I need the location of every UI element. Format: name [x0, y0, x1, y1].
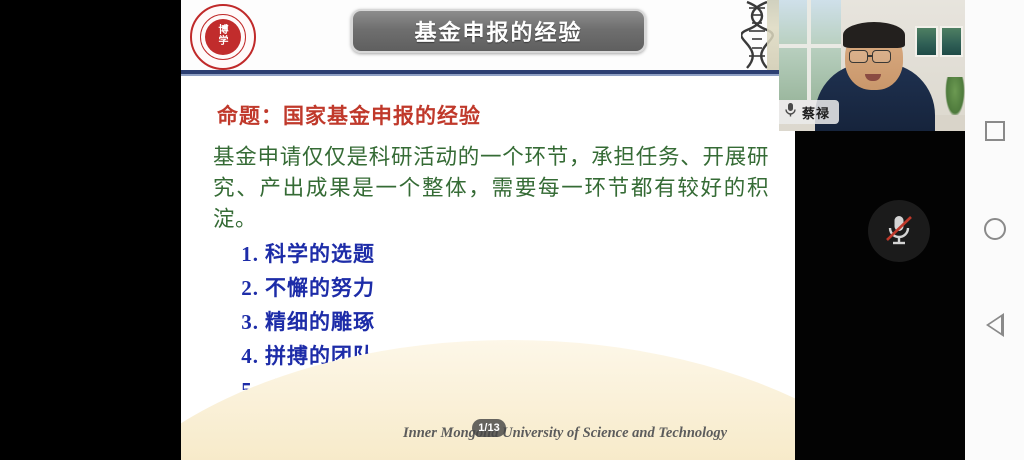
- participant-video-tile[interactable]: 蔡禄: [779, 0, 965, 131]
- slide-paragraph: 基金申请仅仅是科研活动的一个环节，承担任务、开展研究、产出成果是一个整体，需要每…: [213, 142, 769, 235]
- presentation-slide[interactable]: 博学 基金申报的经验: [181, 0, 795, 460]
- screen-root: 博学 基金申报的经验: [0, 0, 1024, 460]
- video-plant: [945, 77, 965, 117]
- mute-microphone-button[interactable]: [868, 200, 930, 262]
- list-item-number: 3.: [233, 310, 259, 335]
- recents-square-icon[interactable]: [965, 108, 1024, 154]
- seal-ring-text: [192, 6, 254, 68]
- video-person-glasses-bridge: [868, 55, 873, 57]
- microphone-muted-icon: [883, 212, 915, 251]
- slide-proposition: 命题：国家基金申报的经验: [217, 100, 481, 130]
- list-item-number: 2.: [233, 276, 259, 301]
- list-item-number: 4.: [233, 344, 259, 369]
- letterbox-left: [0, 0, 181, 460]
- list-item: 1. 科学的选题: [233, 238, 375, 272]
- list-item-label: 不懈的努力: [265, 272, 375, 302]
- list-item-label: 科学的选题: [265, 238, 375, 268]
- list-item: 3. 精细的雕琢: [233, 306, 375, 340]
- video-person-hair: [843, 22, 905, 48]
- slide-title: 基金申报的经验: [414, 15, 582, 47]
- slide-body: 命题：国家基金申报的经验 基金申请仅仅是科研活动的一个环节，承担任务、开展研究、…: [181, 76, 795, 460]
- slide-header: 博学 基金申报的经验: [181, 0, 795, 70]
- back-triangle-icon[interactable]: [965, 302, 1024, 348]
- microphone-icon: [783, 101, 798, 123]
- android-navigation-bar: [965, 0, 1024, 460]
- slide-title-plaque: 基金申报的经验: [351, 9, 646, 53]
- header-divider: [181, 70, 795, 74]
- university-seal-icon: 博学: [190, 4, 256, 70]
- video-person-glasses: [872, 50, 891, 63]
- slide-footer: Inner Mongolia University of Science and…: [403, 425, 727, 442]
- participant-name-chip: 蔡禄: [779, 100, 839, 124]
- list-item-number: 1.: [233, 242, 259, 267]
- page-indicator-badge: 1/13: [472, 419, 506, 437]
- video-person-glasses: [849, 50, 868, 63]
- home-circle-icon[interactable]: [965, 206, 1024, 252]
- list-item-label: 精细的雕琢: [265, 306, 375, 336]
- video-wall-art: [940, 26, 963, 57]
- list-item: 2. 不懈的努力: [233, 272, 375, 306]
- participant-name: 蔡禄: [802, 103, 830, 122]
- video-wall-art: [915, 26, 938, 57]
